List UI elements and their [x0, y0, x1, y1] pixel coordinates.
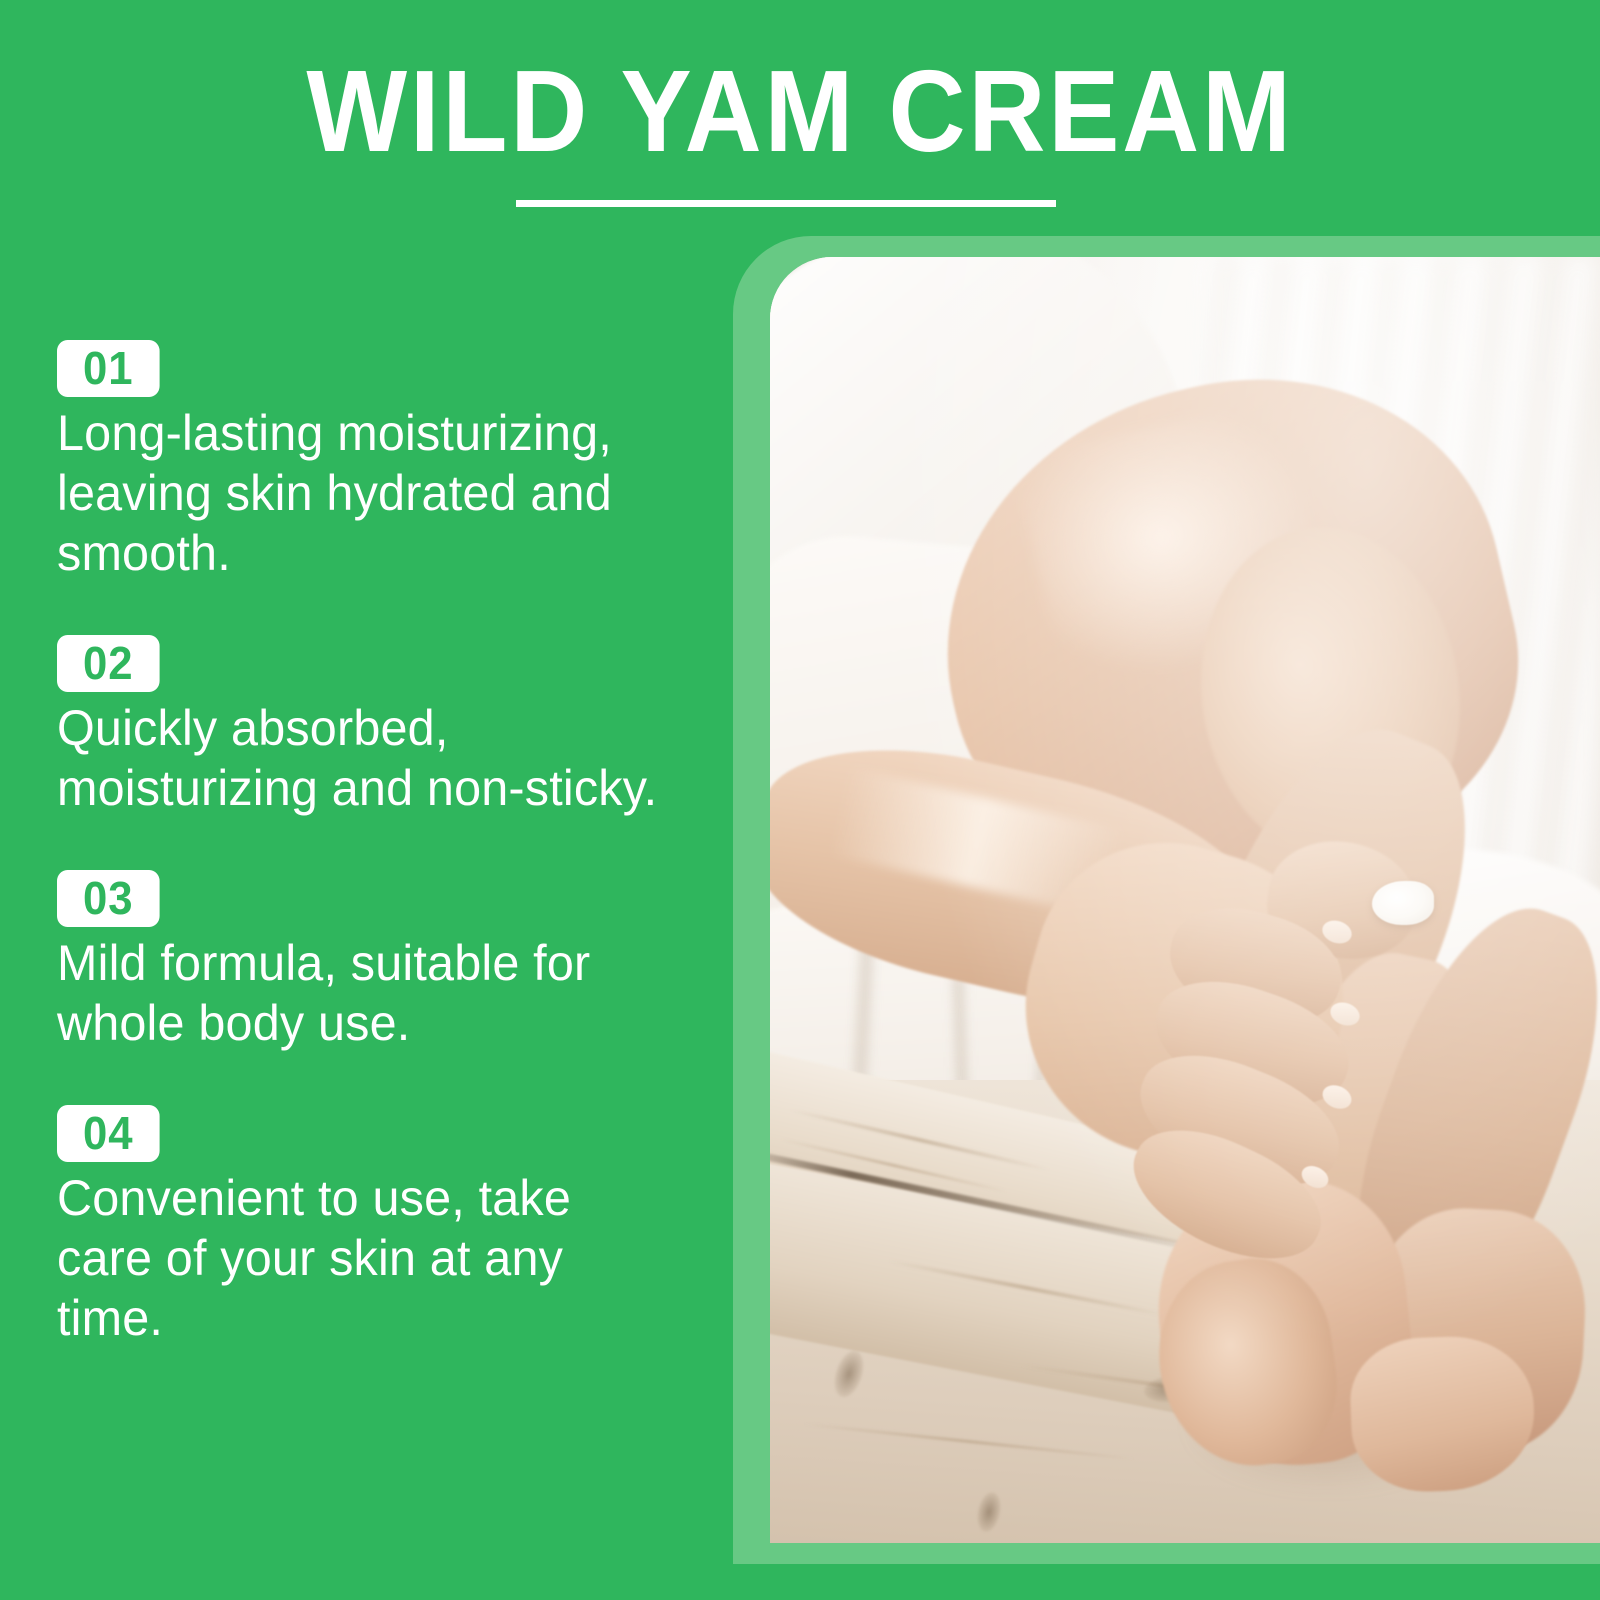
product-feature-poster: WILD YAM CREAM 01 Long-lasting moisturiz…	[0, 0, 1600, 1600]
feature-item: 02 Quickly absorbed, moisturizing and no…	[57, 635, 717, 818]
feature-number-badge: 04	[57, 1105, 160, 1162]
feature-list: 01 Long-lasting moisturizing, leaving sk…	[57, 340, 717, 1348]
photo-scene	[770, 257, 1600, 1543]
cream-dab-on-skin	[1372, 881, 1434, 925]
feature-item: 01 Long-lasting moisturizing, leaving sk…	[57, 340, 717, 583]
feature-number-badge: 02	[57, 635, 160, 692]
feature-description: Convenient to use, take care of your ski…	[57, 1168, 678, 1348]
feature-description: Mild formula, suitable for whole body us…	[57, 933, 678, 1053]
feature-number-badge: 03	[57, 870, 160, 927]
title-underline-divider	[516, 200, 1056, 207]
feature-description: Long-lasting moisturizing, leaving skin …	[57, 403, 678, 583]
feature-item: 04 Convenient to use, take care of your …	[57, 1105, 717, 1348]
page-title: WILD YAM CREAM	[64, 52, 1536, 170]
product-lifestyle-photo	[770, 257, 1600, 1543]
poster-header: WILD YAM CREAM	[0, 0, 1600, 240]
feature-number-badge: 01	[57, 340, 160, 397]
feature-item: 03 Mild formula, suitable for whole body…	[57, 870, 717, 1053]
feature-description: Quickly absorbed, moisturizing and non-s…	[57, 698, 678, 818]
